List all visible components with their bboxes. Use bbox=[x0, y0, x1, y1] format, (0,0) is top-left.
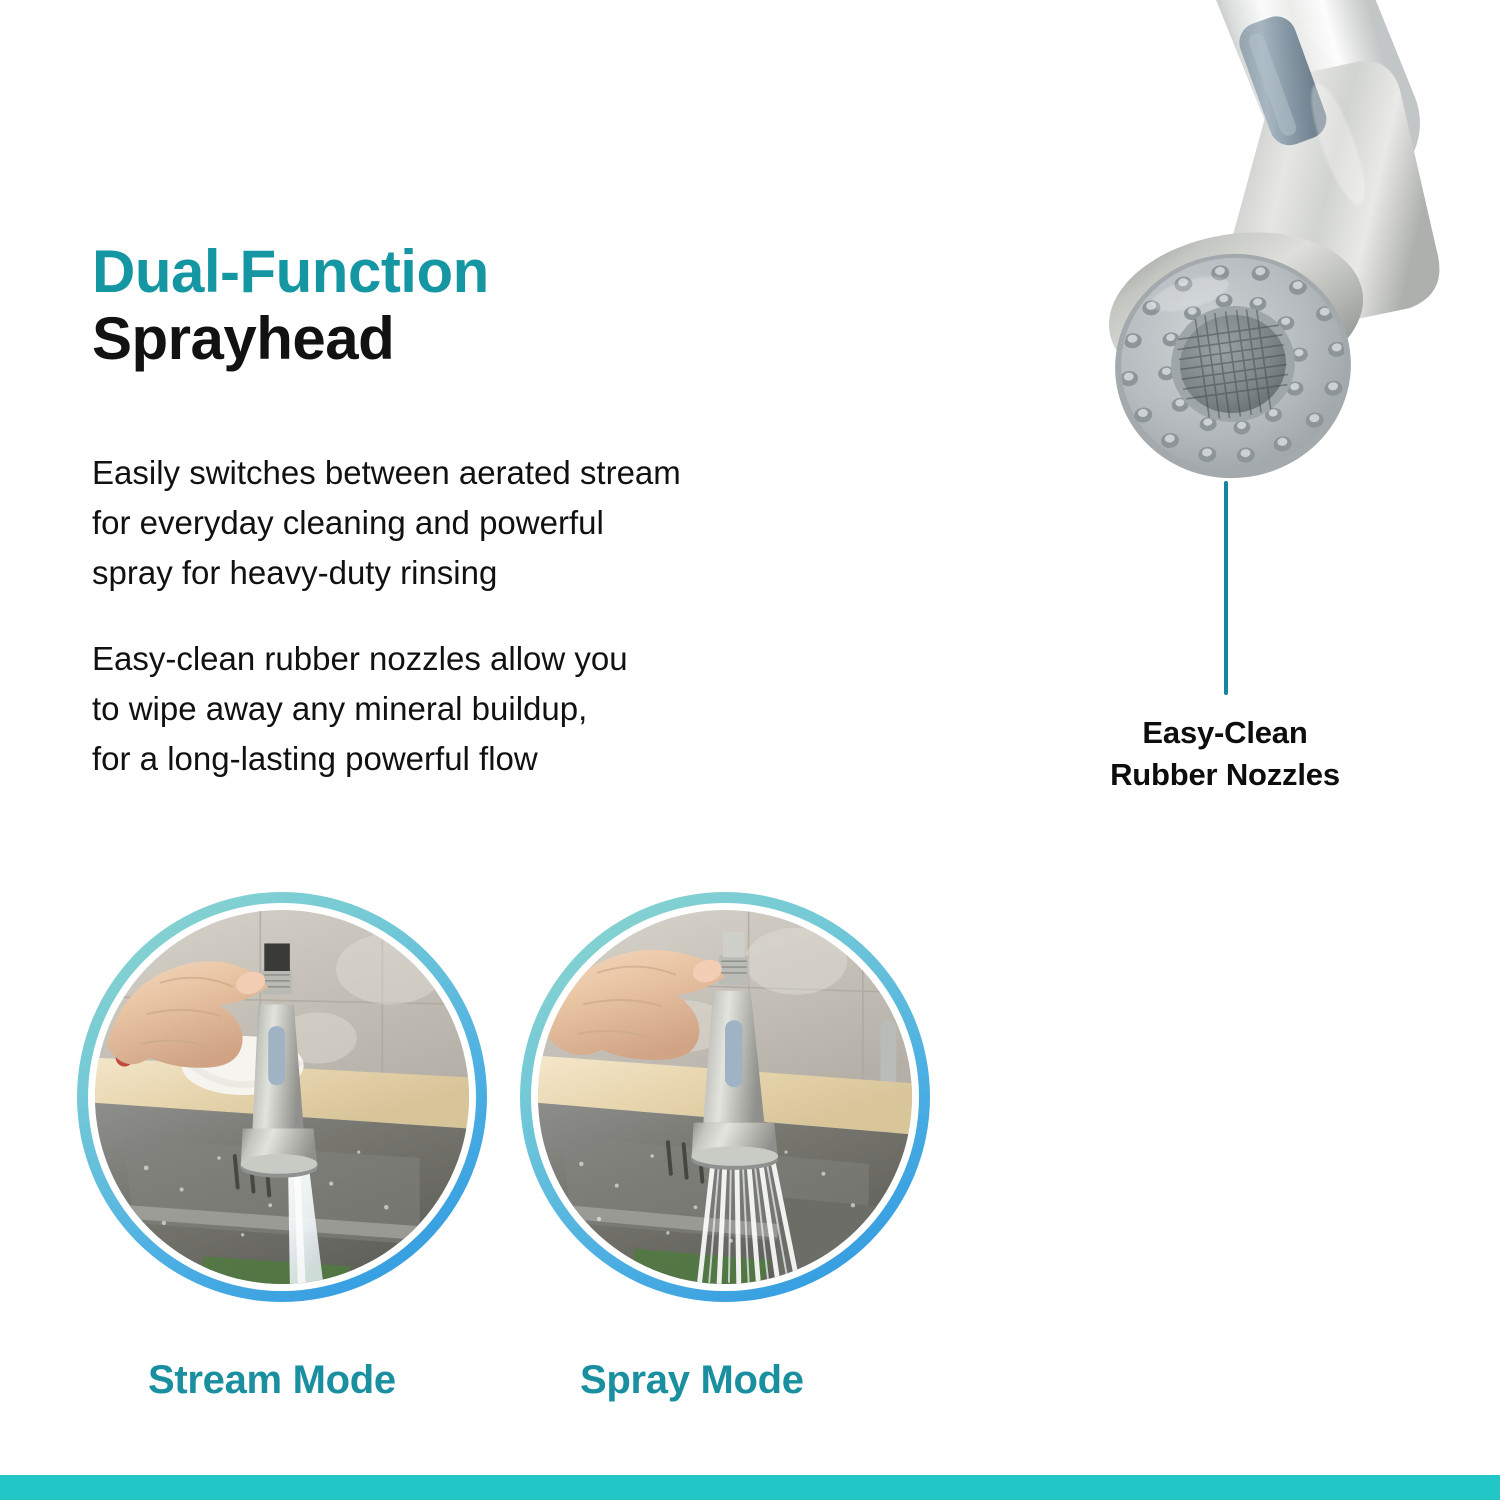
headline-line-1: Dual-Function bbox=[92, 238, 812, 305]
callout-line-2: Rubber Nozzles bbox=[1010, 754, 1440, 796]
mode-ring-inner-spray bbox=[531, 903, 919, 1291]
paragraph-1-line-1: Easily switches between aerated stream bbox=[92, 448, 852, 498]
page-title: Dual-Function Sprayhead bbox=[92, 238, 812, 372]
mode-figure-spray bbox=[520, 892, 930, 1302]
paragraph-1-line-2: for everyday cleaning and powerful bbox=[92, 498, 852, 548]
mode-ring-inner-stream bbox=[88, 903, 476, 1291]
mode-ring-stream bbox=[77, 892, 487, 1302]
mode-ring-spray bbox=[520, 892, 930, 1302]
callout-line-1: Easy-Clean bbox=[1010, 712, 1440, 754]
paragraph-2-line-1: Easy-clean rubber nozzles allow you bbox=[92, 634, 852, 684]
mode-caption-spray: Spray Mode bbox=[580, 1358, 804, 1403]
mode-caption-stream: Stream Mode bbox=[148, 1358, 396, 1403]
bottom-accent-bar bbox=[0, 1475, 1500, 1500]
paragraph-2-line-3: for a long-lasting powerful flow bbox=[92, 734, 852, 784]
infographic-page: Dual-Function Sprayhead Easily switches … bbox=[0, 0, 1500, 1500]
mode-photo-spray bbox=[538, 910, 912, 1284]
feature-paragraph-2: Easy-clean rubber nozzles allow you to w… bbox=[92, 634, 852, 784]
mode-figure-stream bbox=[77, 892, 487, 1302]
hero-product-photo bbox=[1070, 0, 1500, 494]
feature-paragraph-1: Easily switches between aerated stream f… bbox=[92, 448, 852, 598]
paragraph-2-line-2: to wipe away any mineral buildup, bbox=[92, 684, 852, 734]
callout-easy-clean-rubber-nozzles: Easy-Clean Rubber Nozzles bbox=[1010, 712, 1440, 796]
headline-line-2: Sprayhead bbox=[92, 305, 812, 372]
paragraph-1-line-3: spray for heavy-duty rinsing bbox=[92, 548, 852, 598]
callout-leader-line bbox=[1224, 481, 1228, 695]
mode-photo-stream bbox=[95, 910, 469, 1284]
